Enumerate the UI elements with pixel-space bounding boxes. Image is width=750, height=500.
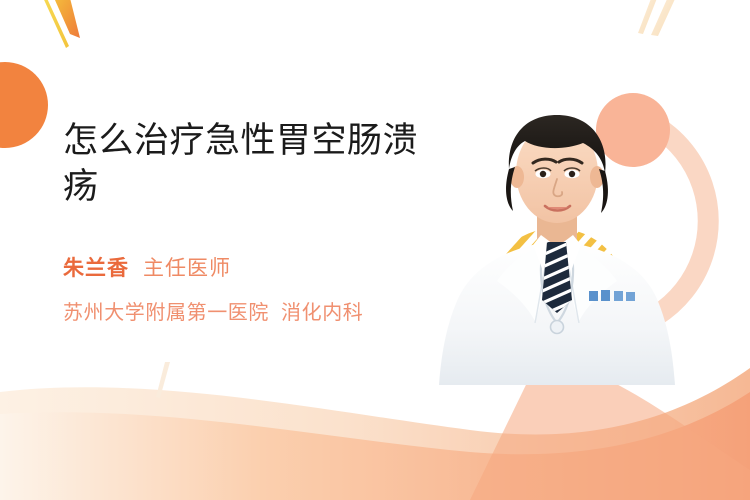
text-content: 怎么治疗急性胃空肠溃疡 朱兰香 主任医师 苏州大学附属第一医院 消化内科 xyxy=(63,118,423,325)
doctor-name: 朱兰香 xyxy=(63,252,129,282)
page-title: 怎么治疗急性胃空肠溃疡 xyxy=(63,118,423,210)
bottom-left-faint-stripe xyxy=(156,362,170,398)
doctor-portrait xyxy=(437,95,677,385)
video-cover-card: 怎么治疗急性胃空肠溃疡 朱兰香 主任医师 苏州大学附属第一医院 消化内科 xyxy=(0,0,750,500)
department-name: 消化内科 xyxy=(281,296,363,325)
top-left-stripe-decoration xyxy=(35,0,80,48)
hospital-name: 苏州大学附属第一医院 xyxy=(63,296,269,325)
top-right-stripe-decoration xyxy=(638,0,680,36)
doctor-identity: 朱兰香 主任医师 xyxy=(63,252,423,282)
head xyxy=(506,115,608,223)
doctor-affiliation: 苏州大学附属第一医院 消化内科 xyxy=(63,296,423,325)
left-orange-circle xyxy=(0,62,48,148)
doctor-rank: 主任医师 xyxy=(143,252,231,282)
